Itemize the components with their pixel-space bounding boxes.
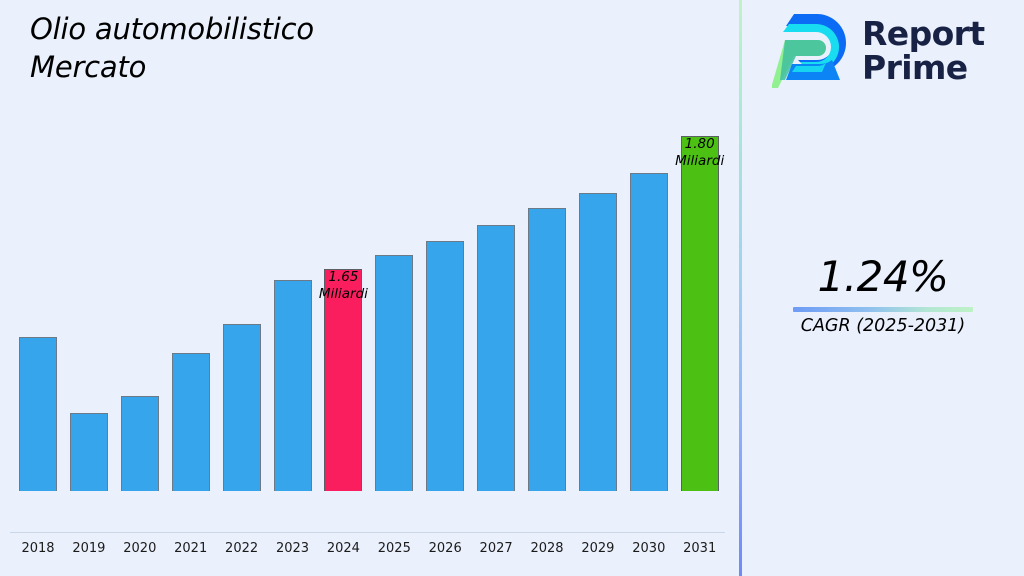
chart-panel: Olio automobilistico Mercato 1.65 Miliar… [0, 0, 740, 576]
bar-2019 [70, 413, 108, 491]
cagr-value: 1.24% [742, 252, 1024, 301]
bar-value-label-2024: 1.65 Miliardi [295, 269, 391, 304]
bar-2031 [681, 136, 719, 491]
brand-name: Report Prime [862, 17, 985, 86]
cagr-caption: CAGR (2025-2031) [742, 316, 1024, 336]
bar-2029 [579, 193, 617, 491]
bar-2020 [121, 396, 159, 491]
bar-chart-plot: 1.65 Miliardi1.80 Miliardi [0, 0, 740, 534]
report-prime-r-logo-icon [772, 10, 850, 92]
bar-2026 [426, 241, 464, 491]
brand-logo: Report Prime [772, 10, 985, 92]
bar-2030 [630, 173, 668, 491]
bar-2021 [172, 353, 210, 491]
infographic-root: Olio automobilistico Mercato 1.65 Miliar… [0, 0, 1024, 576]
x-axis-line [10, 532, 725, 533]
brand-panel: Report Prime 1.24% CAGR (2025-2031) [742, 0, 1024, 576]
bar-value-label-2031: 1.80 Miliardi [652, 136, 748, 171]
bar-2022 [223, 324, 261, 491]
x-tick-2031: 2031 [670, 541, 730, 556]
bar-2027 [477, 225, 515, 491]
cagr-block: 1.24% CAGR (2025-2031) [742, 252, 1024, 336]
cagr-divider-rule [793, 307, 973, 312]
bar-2023 [274, 280, 312, 491]
bar-2028 [528, 208, 566, 491]
bar-2018 [19, 337, 57, 491]
